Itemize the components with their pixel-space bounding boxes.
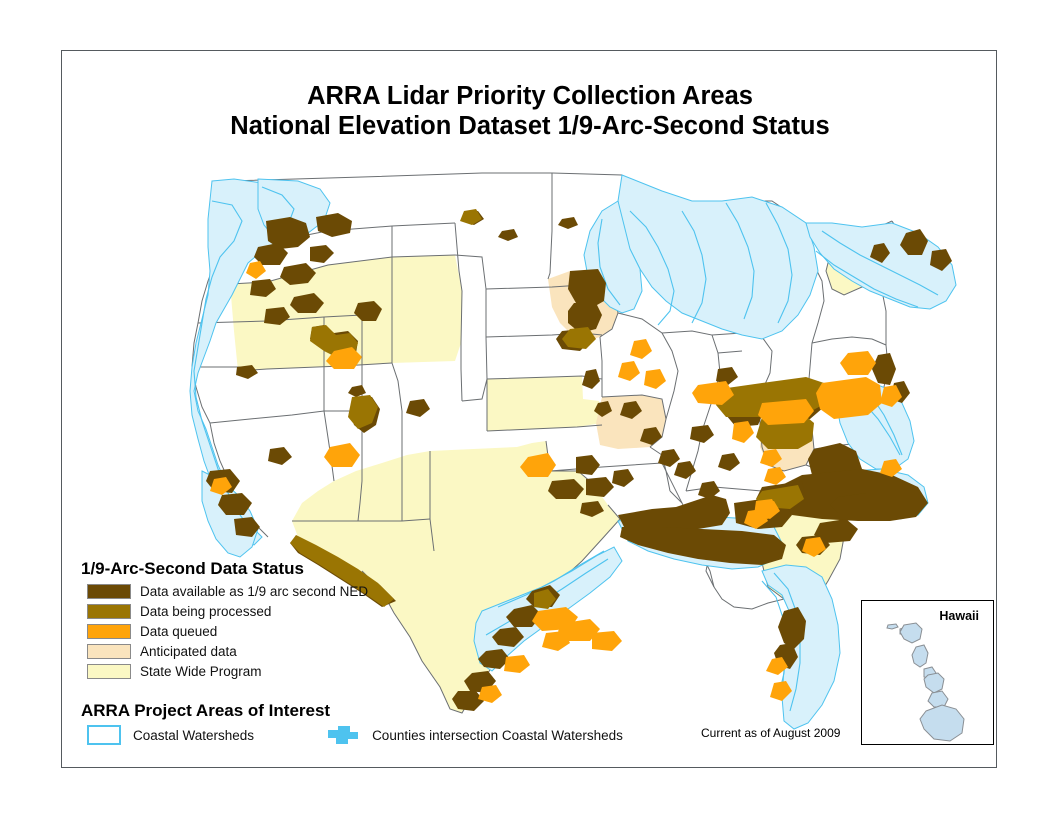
counties-swatch-shape (326, 724, 360, 746)
hawaii-inset-title: Hawaii (939, 609, 979, 623)
legend-item-statewide[interactable]: State Wide Program (87, 661, 681, 681)
map-frame: ARRA Lidar Priority Collection Areas Nat… (61, 50, 997, 768)
swatch-processing (87, 604, 131, 619)
legend-item-counties-intersection[interactable]: Counties intersection Coastal Watersheds (326, 724, 623, 746)
legend-label-coastal-watersheds: Coastal Watersheds (133, 728, 254, 743)
legend-label-available: Data available as 1/9 arc second NED (140, 584, 368, 599)
hawaii-inset[interactable]: Hawaii (861, 600, 994, 745)
status-legend-heading: 1/9-Arc-Second Data Status (81, 559, 681, 579)
legend-label-anticipated: Anticipated data (140, 644, 237, 659)
legend-label-counties-intersection: Counties intersection Coastal Watersheds (372, 728, 623, 743)
legend-label-statewide: State Wide Program (140, 664, 262, 679)
swatch-coastal-watersheds (87, 725, 121, 745)
swatch-available (87, 584, 131, 599)
date-note: Current as of August 2009 (701, 726, 840, 740)
swatch-queued (87, 624, 131, 639)
legend-item-queued[interactable]: Data queued (87, 621, 681, 641)
arra-legend-heading: ARRA Project Areas of Interest (81, 701, 961, 721)
legend-item-anticipated[interactable]: Anticipated data (87, 641, 681, 661)
swatch-statewide (87, 664, 131, 679)
legend-label-queued: Data queued (140, 624, 217, 639)
legend-item-available[interactable]: Data available as 1/9 arc second NED (87, 581, 681, 601)
legend-item-coastal-watersheds[interactable]: Coastal Watersheds (87, 725, 254, 745)
legend-label-processing: Data being processed (140, 604, 271, 619)
legend-item-processing[interactable]: Data being processed (87, 601, 681, 621)
status-legend: 1/9-Arc-Second Data Status Data availabl… (81, 559, 681, 681)
swatch-counties-intersection (326, 724, 360, 746)
swatch-anticipated (87, 644, 131, 659)
